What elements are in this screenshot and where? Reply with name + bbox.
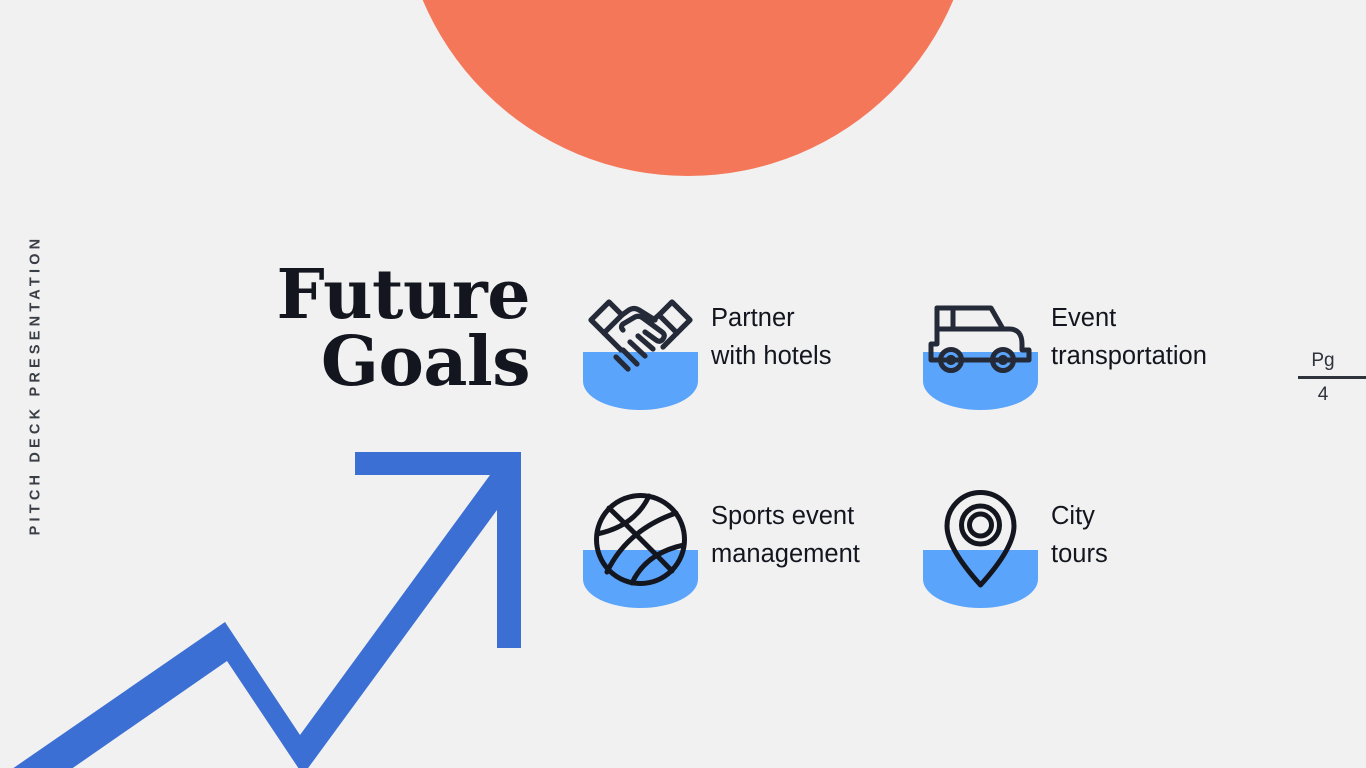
page-number: Pg 4 <box>1286 350 1366 406</box>
feature-label-line-2: tours <box>1051 535 1108 573</box>
feature-label-line-1: City <box>1051 497 1108 535</box>
feature-label-sports-event-management: Sports event management <box>711 497 860 574</box>
feature-label-line-2: with hotels <box>711 337 831 375</box>
basketball-icon-wrap <box>575 468 691 608</box>
growth-arrow-shape <box>0 430 560 768</box>
car-icon-wrap <box>915 270 1031 410</box>
feature-label-event-transportation: Event transportation <box>1051 299 1207 376</box>
page-title-line-2: Goals <box>130 329 530 396</box>
page-title: Future Goals <box>130 262 530 397</box>
feature-label-line-1: Event <box>1051 299 1207 337</box>
page-number-prefix: Pg <box>1286 350 1366 376</box>
feature-label-line-2: management <box>711 535 860 573</box>
page-title-line-1: Future <box>130 262 530 329</box>
feature-label-partner-with-hotels: Partner with hotels <box>711 299 831 376</box>
side-label: PITCH DECK PRESENTATION <box>0 180 70 590</box>
basketball-icon <box>583 482 698 597</box>
map-pin-icon <box>923 482 1038 597</box>
handshake-icon <box>583 284 698 399</box>
feature-item-city-tours[interactable]: City tours <box>915 468 1255 666</box>
map-pin-icon-wrap <box>915 468 1031 608</box>
feature-item-sports-event-management[interactable]: Sports event management <box>575 468 915 666</box>
slide-canvas: PITCH DECK PRESENTATION Future Goals <box>0 0 1366 768</box>
feature-item-partner-with-hotels[interactable]: Partner with hotels <box>575 270 915 468</box>
coral-circle-shape <box>400 0 976 176</box>
feature-item-event-transportation[interactable]: Event transportation <box>915 270 1255 468</box>
feature-label-line-2: transportation <box>1051 337 1207 375</box>
page-number-value: 4 <box>1286 379 1366 406</box>
car-icon <box>923 284 1038 399</box>
feature-grid: Partner with hotels <box>575 270 1255 666</box>
handshake-icon-wrap <box>575 270 691 410</box>
side-label-text: PITCH DECK PRESENTATION <box>27 235 43 536</box>
feature-label-line-1: Partner <box>711 299 831 337</box>
feature-label-line-1: Sports event <box>711 497 860 535</box>
feature-label-city-tours: City tours <box>1051 497 1108 574</box>
